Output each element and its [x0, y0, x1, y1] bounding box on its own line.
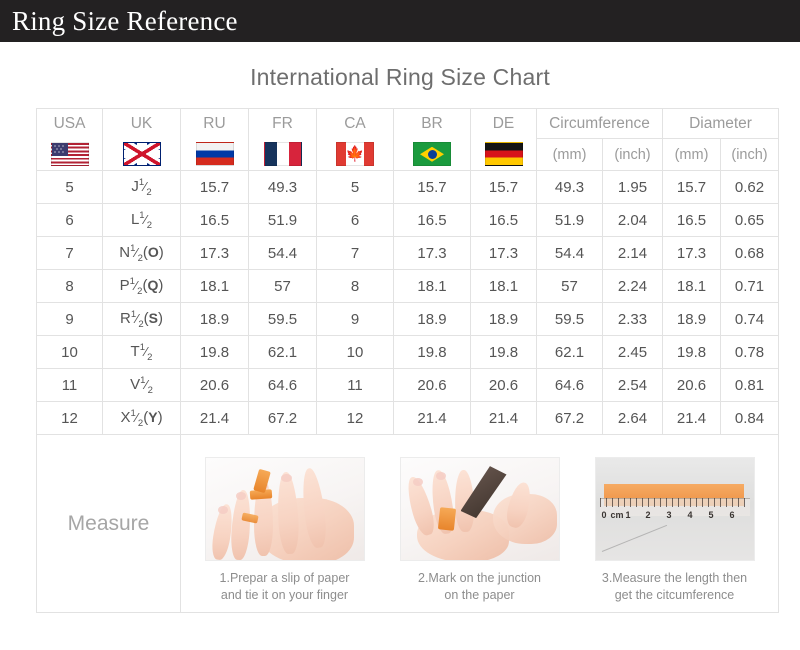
marking-paper-with-pen-photo [400, 457, 560, 561]
cell-diam-inch: 0.65 [721, 204, 779, 237]
header-circ-inch: (inch) [603, 139, 663, 171]
cell-diam-mm: 16.5 [663, 204, 721, 237]
cell-fr: 49.3 [249, 171, 317, 204]
cell-de: 20.6 [471, 369, 537, 402]
cell-circ-mm: 62.1 [537, 336, 603, 369]
measure-steps-cell: 1.Prepar a slip of paperand tie it on yo… [181, 435, 779, 613]
header-circ-mm: (mm) [537, 139, 603, 171]
cell-diam-inch: 0.62 [721, 171, 779, 204]
caption-line-1: 3.Measure the length then [602, 571, 747, 585]
flag-cell-br [394, 139, 471, 171]
cell-br: 21.4 [394, 402, 471, 435]
header-diam-inch: (inch) [721, 139, 779, 171]
cell-circ-mm: 64.6 [537, 369, 603, 402]
cell-uk: V1⁄2 [103, 369, 181, 402]
measure-step: 0cm1234563.Measure the length thenget th… [590, 457, 760, 604]
cell-ru: 20.6 [181, 369, 249, 402]
measure-step-caption: 1.Prepar a slip of paperand tie it on yo… [200, 570, 370, 604]
cell-ca: 5 [317, 171, 394, 204]
table-row: 5J1⁄215.749.3515.715.749.31.9515.70.62 [37, 171, 779, 204]
cell-de: 18.9 [471, 303, 537, 336]
ring-size-table: USA UK RU FR CA BR DE Circumference Diam… [36, 108, 779, 613]
cell-ca: 8 [317, 270, 394, 303]
caption-line-1: 2.Mark on the junction [418, 571, 541, 585]
table-row: 10T1⁄219.862.11019.819.862.12.4519.80.78 [37, 336, 779, 369]
cell-circ-mm: 59.5 [537, 303, 603, 336]
cell-ru: 16.5 [181, 204, 249, 237]
cell-diam-inch: 0.81 [721, 369, 779, 402]
cell-circ-inch: 2.04 [603, 204, 663, 237]
cell-diam-mm: 15.7 [663, 171, 721, 204]
measure-label-cell: Measure [37, 435, 181, 613]
cell-ru: 18.1 [181, 270, 249, 303]
cell-usa: 6 [37, 204, 103, 237]
cell-fr: 64.6 [249, 369, 317, 402]
cell-br: 18.9 [394, 303, 471, 336]
measure-step: 1.Prepar a slip of paperand tie it on yo… [200, 457, 370, 604]
cell-fr: 51.9 [249, 204, 317, 237]
flag-cell-de [471, 139, 537, 171]
cell-de: 17.3 [471, 237, 537, 270]
cell-usa: 8 [37, 270, 103, 303]
flag-cell-ca: 🍁 [317, 139, 394, 171]
cell-uk: R1⁄2(S) [103, 303, 181, 336]
cell-circ-inch: 1.95 [603, 171, 663, 204]
cell-diam-mm: 17.3 [663, 237, 721, 270]
flag-brazil-icon [413, 142, 451, 166]
caption-line-2: get the citcumference [615, 588, 735, 602]
cell-diam-inch: 0.71 [721, 270, 779, 303]
flag-cell-fr [249, 139, 317, 171]
cell-circ-mm: 67.2 [537, 402, 603, 435]
header-diameter: Diameter [663, 109, 779, 139]
cell-circ-mm: 51.9 [537, 204, 603, 237]
cell-diam-mm: 20.6 [663, 369, 721, 402]
cell-circ-inch: 2.64 [603, 402, 663, 435]
cell-diam-inch: 0.84 [721, 402, 779, 435]
flag-france-icon [264, 142, 302, 166]
table-row: 11V1⁄220.664.61120.620.664.62.5420.60.81 [37, 369, 779, 402]
table-row: 8P1⁄2(Q)18.157818.118.1572.2418.10.71 [37, 270, 779, 303]
table-row: 12X1⁄2(Y)21.467.21221.421.467.22.6421.40… [37, 402, 779, 435]
header-ru: RU [181, 109, 249, 139]
header-br: BR [394, 109, 471, 139]
cell-diam-inch: 0.78 [721, 336, 779, 369]
hand-with-paper-strip-photo [205, 457, 365, 561]
cell-br: 16.5 [394, 204, 471, 237]
cell-diam-inch: 0.74 [721, 303, 779, 336]
measure-steps: 1.Prepar a slip of paperand tie it on yo… [181, 443, 778, 604]
measure-section-row: Measure 1.Prepar a slip of paperand tie … [37, 435, 779, 613]
page-banner: Ring Size Reference [0, 0, 800, 42]
cell-diam-mm: 18.9 [663, 303, 721, 336]
header-ca: CA [317, 109, 394, 139]
cell-usa: 5 [37, 171, 103, 204]
flag-cell-usa [37, 139, 103, 171]
cell-fr: 62.1 [249, 336, 317, 369]
cell-usa: 12 [37, 402, 103, 435]
table-header-flags-units: 🍁 (mm) (inch) (mm) (inch) [37, 139, 779, 171]
cell-de: 19.8 [471, 336, 537, 369]
flag-canada-icon: 🍁 [336, 142, 374, 166]
cell-ca: 12 [317, 402, 394, 435]
cell-uk: N1⁄2(O) [103, 237, 181, 270]
cell-de: 21.4 [471, 402, 537, 435]
cell-de: 18.1 [471, 270, 537, 303]
cell-fr: 54.4 [249, 237, 317, 270]
cell-br: 15.7 [394, 171, 471, 204]
cell-ca: 7 [317, 237, 394, 270]
flag-russia-icon [196, 142, 234, 166]
cell-diam-mm: 19.8 [663, 336, 721, 369]
cell-ca: 11 [317, 369, 394, 402]
cell-uk: P1⁄2(Q) [103, 270, 181, 303]
cell-ca: 6 [317, 204, 394, 237]
table-row: 6L1⁄216.551.9616.516.551.92.0416.50.65 [37, 204, 779, 237]
table-row: 9R1⁄2(S)18.959.5918.918.959.52.3318.90.7… [37, 303, 779, 336]
cell-br: 20.6 [394, 369, 471, 402]
cell-br: 19.8 [394, 336, 471, 369]
cell-diam-mm: 18.1 [663, 270, 721, 303]
cell-usa: 7 [37, 237, 103, 270]
cell-usa: 11 [37, 369, 103, 402]
flag-germany-icon [485, 142, 523, 166]
cell-ca: 9 [317, 303, 394, 336]
header-diam-mm: (mm) [663, 139, 721, 171]
cell-circ-mm: 49.3 [537, 171, 603, 204]
cell-circ-inch: 2.54 [603, 369, 663, 402]
cell-ru: 21.4 [181, 402, 249, 435]
cell-uk: J1⁄2 [103, 171, 181, 204]
cell-uk: X1⁄2(Y) [103, 402, 181, 435]
caption-line-2: and tie it on your finger [221, 588, 348, 602]
cell-ru: 19.8 [181, 336, 249, 369]
header-fr: FR [249, 109, 317, 139]
flag-uk-icon [123, 142, 161, 166]
cell-ca: 10 [317, 336, 394, 369]
cell-uk: T1⁄2 [103, 336, 181, 369]
caption-line-2: on the paper [444, 588, 514, 602]
measure-label: Measure [37, 512, 180, 536]
header-usa: USA [37, 109, 103, 139]
paper-strip-on-ruler-photo: 0cm123456 [595, 457, 755, 561]
measure-step-caption: 2.Mark on the junctionon the paper [395, 570, 565, 604]
cell-uk: L1⁄2 [103, 204, 181, 237]
measure-step: 2.Mark on the junctionon the paper [395, 457, 565, 604]
header-circumference: Circumference [537, 109, 663, 139]
table-header-countries: USA UK RU FR CA BR DE Circumference Diam… [37, 109, 779, 139]
cell-fr: 57 [249, 270, 317, 303]
cell-ru: 17.3 [181, 237, 249, 270]
cell-diam-inch: 0.68 [721, 237, 779, 270]
flag-usa-icon [51, 142, 89, 166]
page-title: Ring Size Reference [12, 8, 238, 35]
measure-step-caption: 3.Measure the length thenget the citcumf… [590, 570, 760, 604]
caption-line-1: 1.Prepar a slip of paper [220, 571, 350, 585]
cell-de: 15.7 [471, 171, 537, 204]
cell-usa: 10 [37, 336, 103, 369]
cell-br: 18.1 [394, 270, 471, 303]
flag-cell-uk [103, 139, 181, 171]
ring-size-table-container: USA UK RU FR CA BR DE Circumference Diam… [0, 108, 800, 613]
cell-br: 17.3 [394, 237, 471, 270]
cell-circ-inch: 2.45 [603, 336, 663, 369]
cell-fr: 59.5 [249, 303, 317, 336]
cell-usa: 9 [37, 303, 103, 336]
cell-circ-inch: 2.24 [603, 270, 663, 303]
cell-de: 16.5 [471, 204, 537, 237]
cell-diam-mm: 21.4 [663, 402, 721, 435]
table-row: 7N1⁄2(O)17.354.4717.317.354.42.1417.30.6… [37, 237, 779, 270]
cell-ru: 18.9 [181, 303, 249, 336]
flag-cell-ru [181, 139, 249, 171]
cell-circ-inch: 2.33 [603, 303, 663, 336]
cell-circ-inch: 2.14 [603, 237, 663, 270]
cell-circ-mm: 54.4 [537, 237, 603, 270]
cell-fr: 67.2 [249, 402, 317, 435]
chart-title: International Ring Size Chart [0, 64, 800, 91]
header-de: DE [471, 109, 537, 139]
cell-circ-mm: 57 [537, 270, 603, 303]
header-uk: UK [103, 109, 181, 139]
cell-ru: 15.7 [181, 171, 249, 204]
